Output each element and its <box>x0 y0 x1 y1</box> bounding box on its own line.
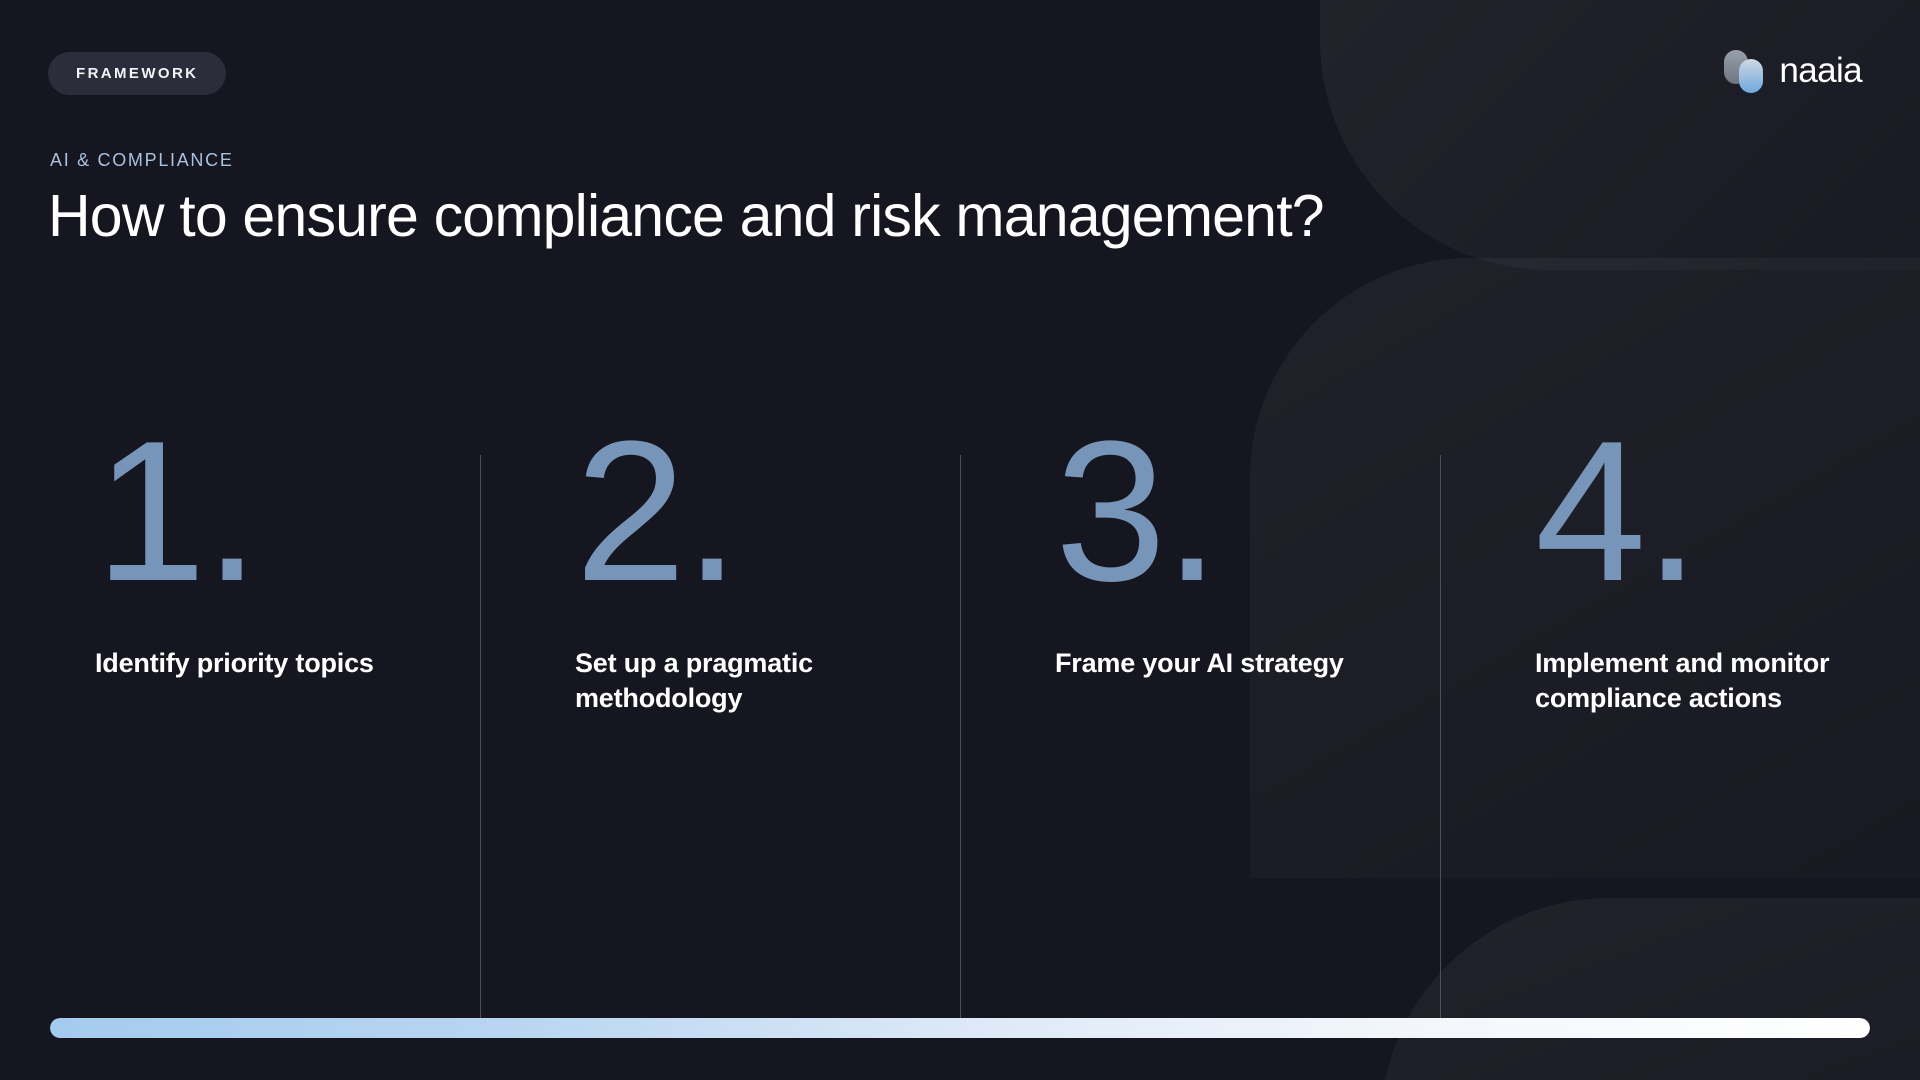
steps-container: 1. Identify priority topics 2. Set up a … <box>0 430 1920 910</box>
step-label: Frame your AI strategy <box>1055 646 1385 681</box>
framework-badge: FRAMEWORK <box>48 52 226 95</box>
decorative-blob-bottom-right <box>1380 898 1920 1080</box>
step-item: 3. Frame your AI strategy <box>960 430 1440 910</box>
step-item: 2. Set up a pragmatic methodology <box>480 430 960 910</box>
eyebrow-label: AI & COMPLIANCE <box>50 150 234 171</box>
step-number: 1. <box>95 430 450 594</box>
step-label: Implement and monitor compliance actions <box>1535 646 1865 715</box>
step-item: 1. Identify priority topics <box>0 430 480 910</box>
step-number: 2. <box>575 430 930 594</box>
step-number: 4. <box>1535 430 1890 594</box>
naaia-logo-mark-icon <box>1724 50 1766 92</box>
progress-bar-fill <box>50 1018 1870 1038</box>
brand-name: naaia <box>1779 51 1862 91</box>
step-item: 4. Implement and monitor compliance acti… <box>1440 430 1920 910</box>
brand-logo: naaia <box>1724 50 1862 92</box>
step-label: Set up a pragmatic methodology <box>575 646 905 715</box>
decorative-blob-top-right <box>1320 0 1920 270</box>
progress-bar <box>50 1018 1870 1038</box>
step-label: Identify priority topics <box>95 646 425 681</box>
step-number: 3. <box>1055 430 1410 594</box>
logo-capsule-blue-icon <box>1739 59 1763 93</box>
page-title: How to ensure compliance and risk manage… <box>48 182 1324 250</box>
